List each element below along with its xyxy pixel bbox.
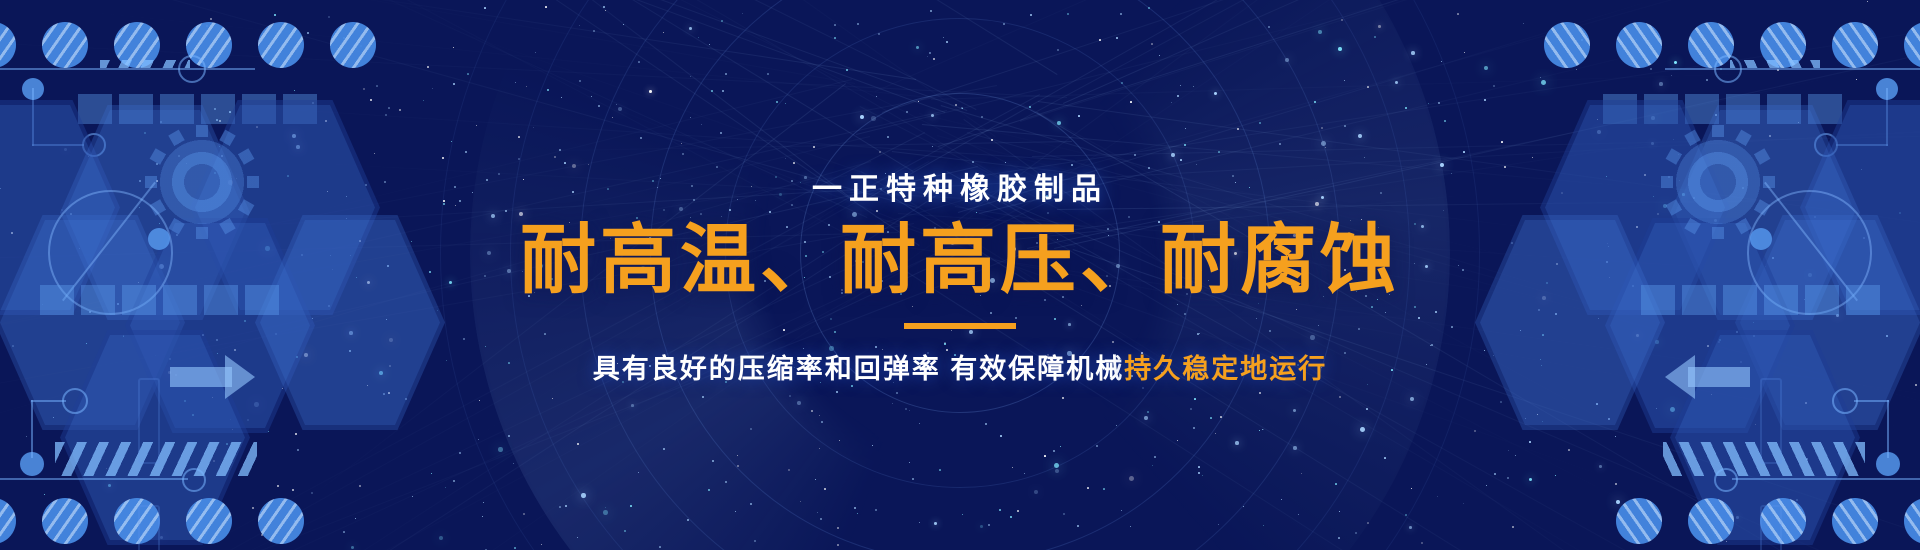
divider-rule	[904, 323, 1016, 329]
banner-content: 一正特种橡胶制品 耐高温、耐高压、耐腐蚀 具有良好的压缩率和回弹率 有效保障机械…	[0, 0, 1920, 550]
subtitle-accent-part: 持久稳定地运行	[1124, 354, 1327, 384]
banner-subtitle: 具有良好的压缩率和回弹率 有效保障机械持久稳定地运行	[593, 347, 1328, 386]
hero-banner: 一正特种橡胶制品 耐高温、耐高压、耐腐蚀 具有良好的压缩率和回弹率 有效保障机械…	[0, 0, 1920, 550]
subtitle-white-part: 具有良好的压缩率和回弹率 有效保障机械	[593, 354, 1125, 384]
page-title: 耐高温、耐高压、耐腐蚀	[520, 220, 1400, 302]
brand-eyebrow: 一正特种橡胶制品	[812, 164, 1108, 208]
